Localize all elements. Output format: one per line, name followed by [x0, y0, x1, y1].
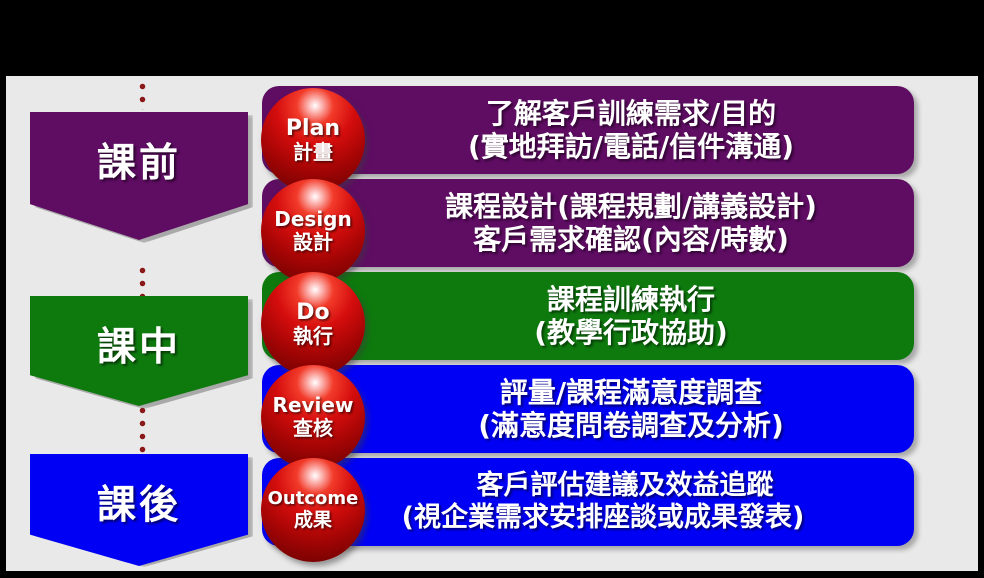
step-design-line-1: 課程設計(課程規劃/講義設計)	[358, 190, 904, 223]
step-outcome-line-1: 客戶評估建議及效益追蹤	[346, 470, 904, 502]
step-do-line-2: (教學行政協助)	[358, 316, 904, 349]
step-sphere-plan[interactable]: Plan 計畫	[261, 88, 365, 192]
stage-after-class-label: 課後	[97, 474, 181, 530]
connector-before-to-during-dotted	[138, 264, 147, 298]
step-sphere-plan-en: Plan	[286, 117, 340, 140]
step-plan-line-1: 了解客戶訓練需求/目的	[358, 97, 904, 130]
stage-before-class[interactable]: 課前	[30, 112, 248, 240]
step-sphere-design-zh: 設計	[293, 231, 333, 253]
step-review-line-2: (滿意度問卷調查及分析)	[358, 409, 904, 442]
step-sphere-review-zh: 查核	[293, 417, 333, 439]
step-sphere-review-en: Review	[273, 395, 354, 416]
step-sphere-review[interactable]: Review 查核	[261, 365, 365, 469]
outer-frame: 課前 課中 課後 了解客戶訓練需求/目的 (實地拜訪/電話/信件溝通) 課程設計…	[0, 0, 984, 578]
step-outcome-line-2: (視企業需求安排座談或成果發表)	[302, 502, 904, 534]
step-sphere-do[interactable]: Do 執行	[261, 272, 365, 376]
stage-during-class-label: 課中	[97, 316, 181, 372]
step-sphere-design[interactable]: Design 設計	[261, 179, 365, 283]
connector-top-dotted	[138, 80, 147, 110]
step-sphere-design-en: Design	[274, 209, 351, 230]
step-design-line-2: 客戶需求確認(內容/時數)	[358, 223, 904, 256]
stage-during-class[interactable]: 課中	[30, 296, 248, 406]
stage-after-class[interactable]: 課後	[30, 454, 248, 566]
step-do-line-1: 課程訓練執行	[358, 283, 904, 316]
step-sphere-do-zh: 執行	[293, 325, 333, 347]
diagram-canvas: 課前 課中 課後 了解客戶訓練需求/目的 (實地拜訪/電話/信件溝通) 課程設計…	[6, 76, 978, 571]
step-sphere-outcome[interactable]: Outcome 成果	[261, 458, 365, 562]
step-sphere-outcome-zh: 成果	[294, 510, 332, 531]
step-review-line-1: 評量/課程滿意度調查	[358, 376, 904, 409]
step-plan-line-2: (實地拜訪/電話/信件溝通)	[358, 130, 904, 163]
step-sphere-plan-zh: 計畫	[293, 141, 333, 163]
stage-before-class-label: 課前	[97, 132, 181, 188]
step-sphere-outcome-en: Outcome	[268, 490, 359, 509]
step-sphere-do-en: Do	[296, 301, 329, 324]
